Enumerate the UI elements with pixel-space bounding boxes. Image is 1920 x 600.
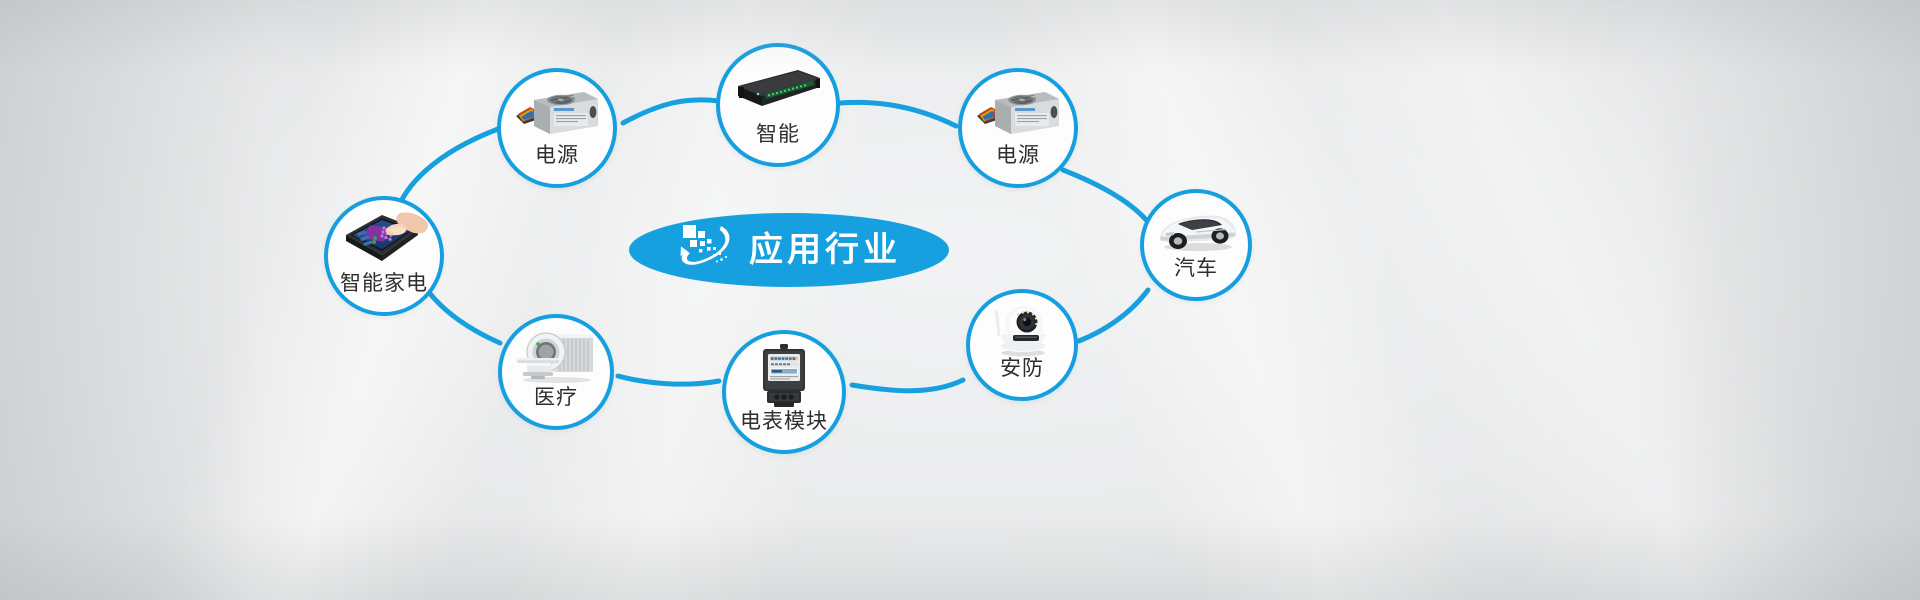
link-security-to-meter [852,380,963,391]
connector-lines [0,0,1920,600]
ip-camera-icon [970,299,1074,358]
node-power-right[interactable]: 电源 [958,68,1078,188]
sports-car-icon [1144,199,1248,258]
node-medical[interactable]: 医疗 [498,314,614,430]
link-power-right-to-automotive [1063,170,1148,222]
node-label: 电源 [535,145,579,166]
link-smart-home-to-power-left [396,129,498,214]
atx-power-supply-icon [501,78,613,145]
application-industries-infographic: 电源 [0,0,1920,600]
link-automotive-to-security [1079,290,1148,341]
pixel-orbit-swoosh-logo [677,222,733,278]
mri-scanner-icon [502,324,610,387]
node-label: 医疗 [534,387,578,408]
node-label: 智能家电 [340,273,428,294]
node-automotive[interactable]: 汽车 [1140,189,1252,301]
node-smart[interactable]: 智能 [716,43,840,167]
electric-meter-icon [726,340,842,411]
tablet-touch-icon [328,206,440,273]
node-label: 汽车 [1174,258,1218,279]
center-badge[interactable]: 应用行业 [629,213,949,287]
node-smart-home[interactable]: 智能家电 [324,196,444,316]
link-smart-to-power-right [840,102,956,126]
link-medical-to-smart-home [428,291,500,343]
node-meter-module[interactable]: 电表模块 [722,330,846,454]
link-power-left-to-smart [623,100,719,123]
node-label: 电源 [996,145,1040,166]
rack-server-icon [720,53,836,124]
node-label: 智能 [756,124,800,145]
center-badge-label: 应用行业 [749,233,901,267]
node-label: 安防 [1000,358,1044,379]
node-security[interactable]: 安防 [966,289,1078,401]
link-meter-to-medical [618,376,719,384]
node-power-left[interactable]: 电源 [497,68,617,188]
node-label: 电表模块 [740,411,828,432]
atx-power-supply-icon [962,78,1074,145]
